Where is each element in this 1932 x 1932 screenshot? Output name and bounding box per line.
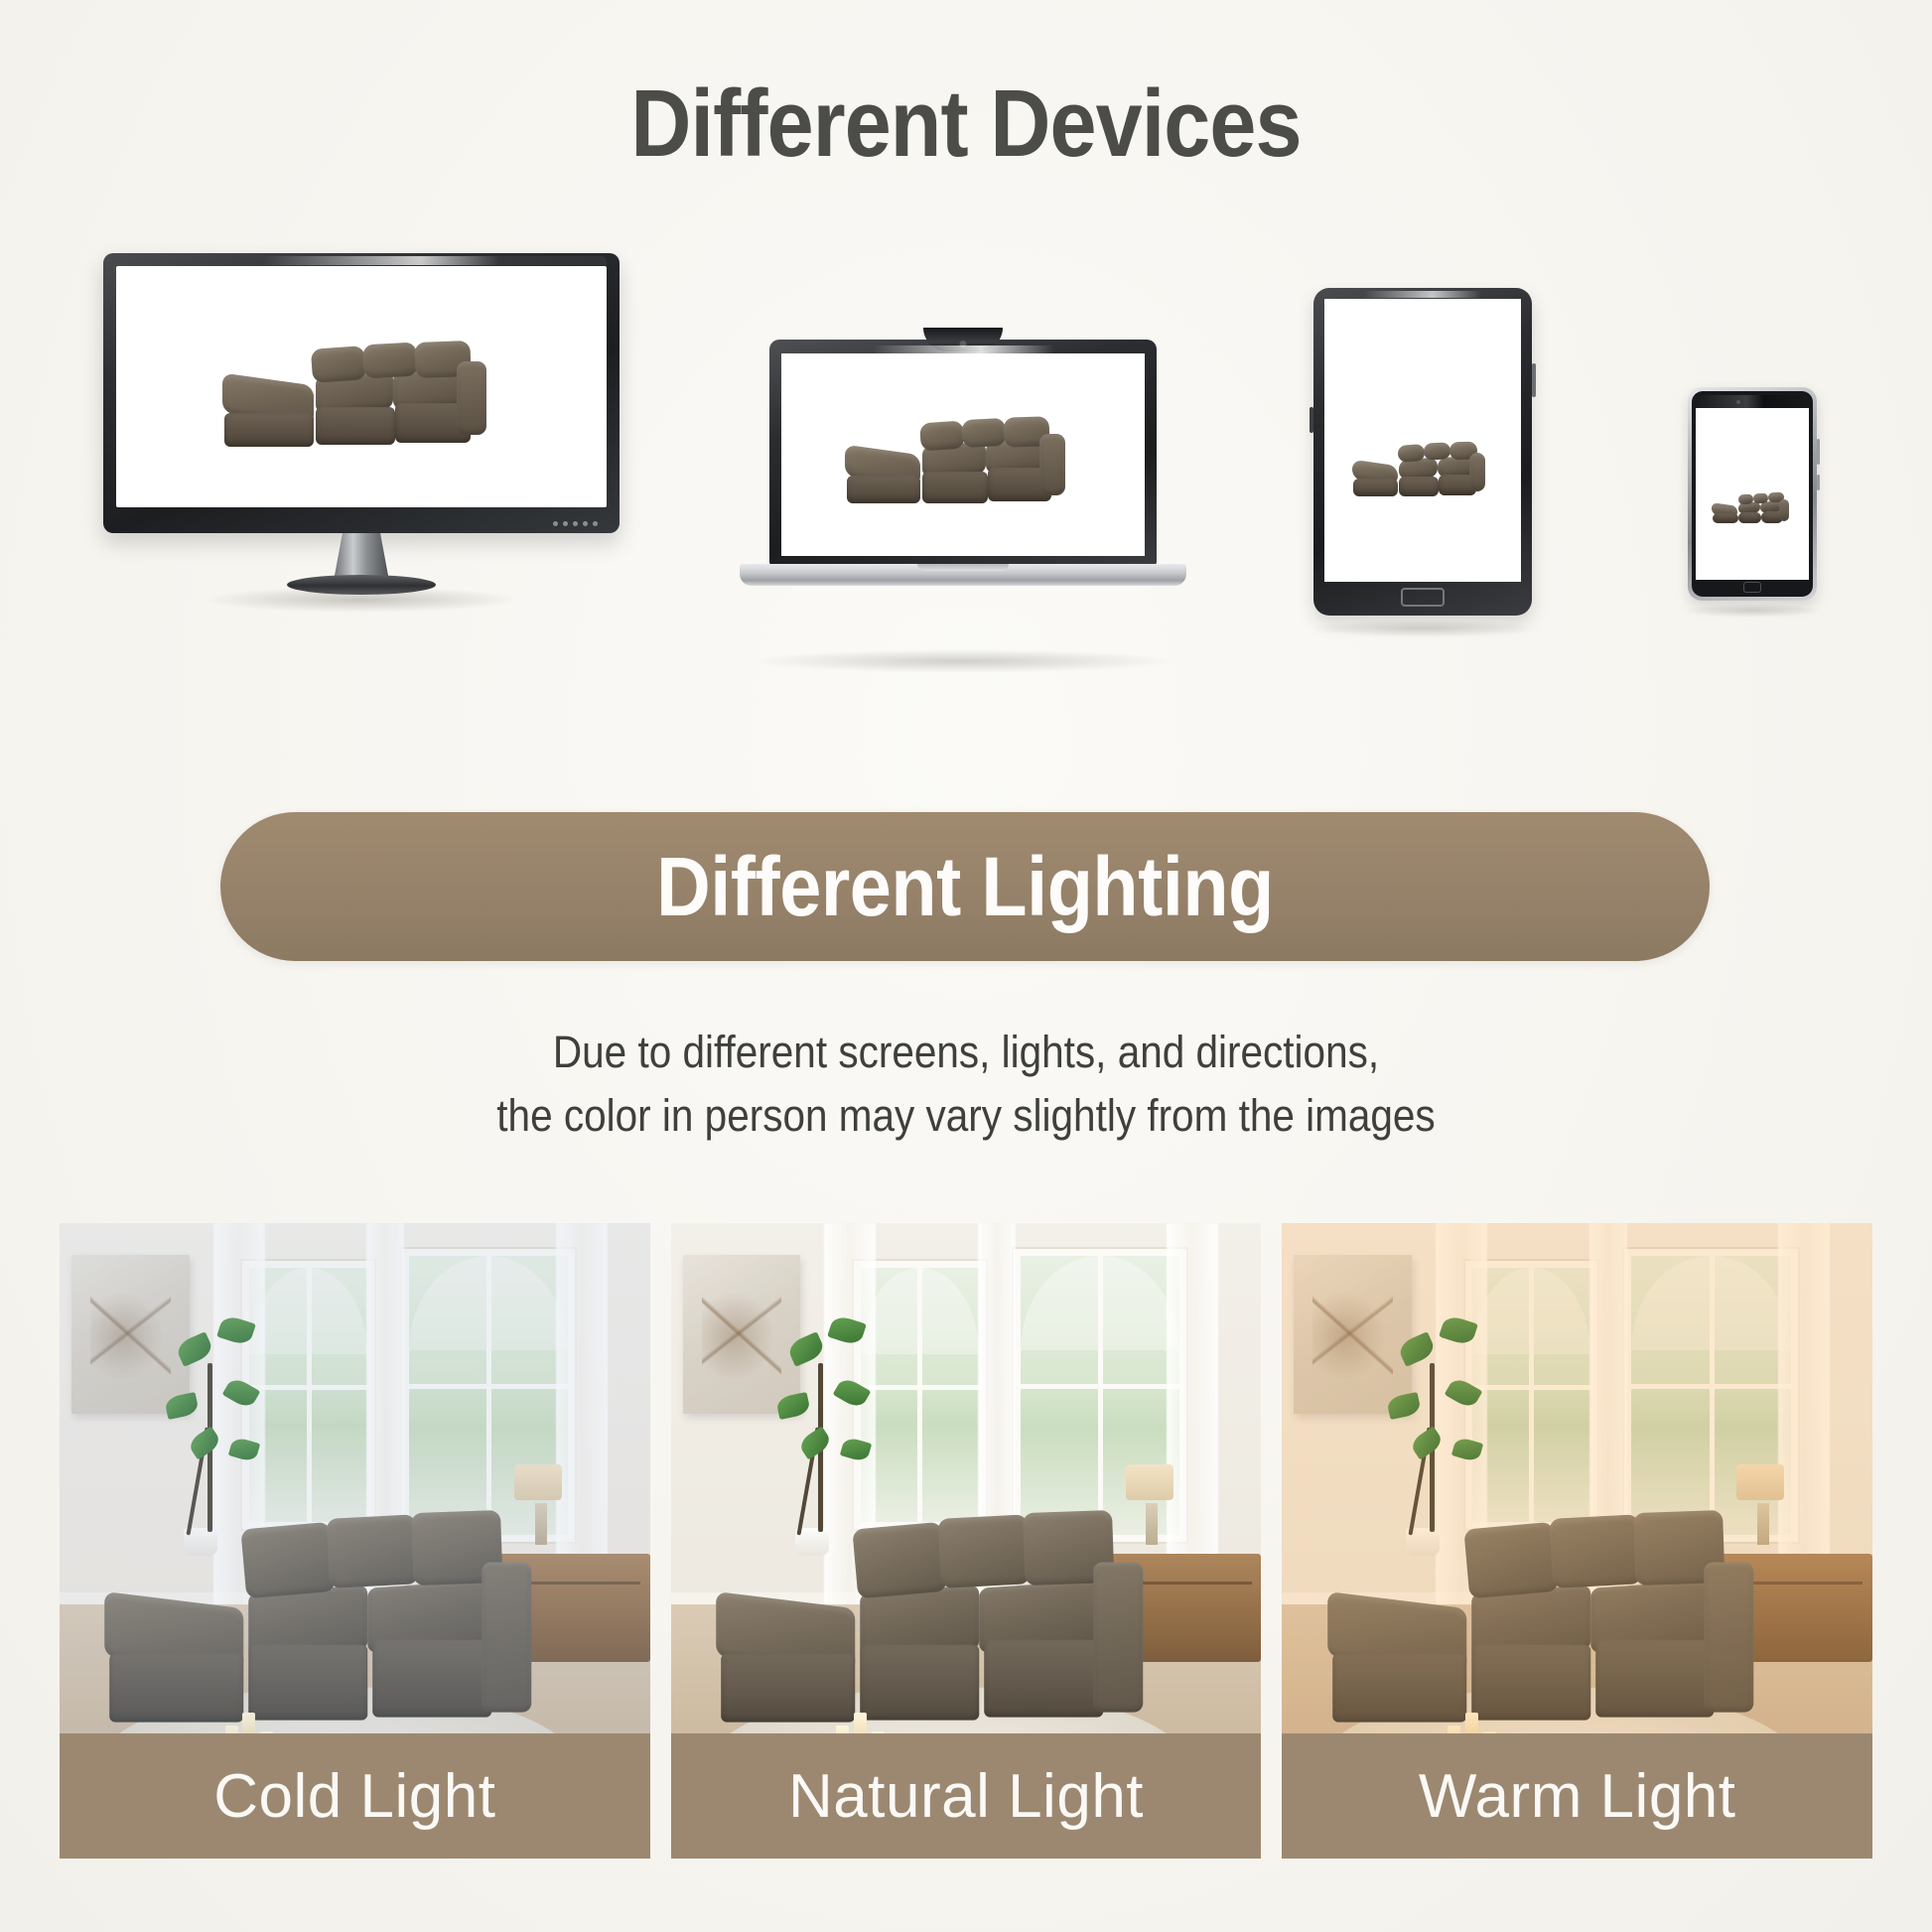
- disclaimer-line-1: Due to different screens, lights, and di…: [96, 1021, 1835, 1084]
- laptop-shadow: [750, 649, 1176, 673]
- tablet-icon: [1313, 288, 1532, 616]
- device-tablet: [1313, 288, 1532, 616]
- lighting-banner-label: Different Lighting: [295, 812, 1635, 961]
- disclaimer-text: Due to different screens, lights, and di…: [0, 1021, 1932, 1148]
- lighting-sample-warm-light[interactable]: Warm Light: [1282, 1223, 1872, 1859]
- caption-bar-warm: Warm Light: [1282, 1733, 1872, 1859]
- phone-icon: [1688, 387, 1817, 601]
- phone-volume-button[interactable]: [1817, 475, 1820, 490]
- phone-power-button[interactable]: [1817, 439, 1820, 465]
- lighting-banner: Different Lighting: [220, 812, 1710, 961]
- infographic-page: Different Devices: [0, 0, 1932, 1932]
- caption-label-warm: Warm Light: [1419, 1761, 1736, 1832]
- page-title: Different Devices: [116, 69, 1816, 179]
- monitor-indicator-dots: [553, 521, 598, 526]
- monitor-screen: [116, 266, 607, 507]
- phone-notch: [1696, 395, 1809, 408]
- lighting-sample-natural-light[interactable]: Natural Light: [671, 1223, 1262, 1859]
- caption-label-natural: Natural Light: [788, 1761, 1144, 1832]
- sofa-image-laptop: [839, 402, 1087, 531]
- tablet-home-button[interactable]: [1401, 588, 1445, 607]
- tablet-volume-button[interactable]: [1310, 407, 1313, 433]
- caption-label-cold: Cold Light: [213, 1761, 495, 1832]
- lighting-sample-cold-light[interactable]: Cold Light: [60, 1223, 650, 1859]
- disclaimer-line-2: the color in person may vary slightly fr…: [96, 1084, 1835, 1148]
- phone-home-indicator[interactable]: [1743, 582, 1761, 593]
- phone-screen: [1696, 408, 1809, 580]
- laptop-screen-glare: [781, 345, 1145, 353]
- monitor-stand-neck: [334, 533, 389, 581]
- monitor-shadow: [203, 587, 520, 613]
- tablet-power-button[interactable]: [1532, 363, 1536, 397]
- lighting-samples-row: Cold Light: [60, 1223, 1872, 1859]
- laptop-base: [740, 564, 1186, 586]
- caption-bar-natural: Natural Light: [671, 1733, 1262, 1859]
- device-desktop-monitor: [103, 253, 620, 533]
- sofa-image-phone: [1710, 487, 1795, 535]
- sofa-image-tablet: [1348, 433, 1497, 516]
- phone-shadow: [1683, 604, 1822, 618]
- tablet-screen: [1324, 299, 1521, 582]
- device-laptop: [740, 340, 1186, 586]
- sofa-image-monitor: [212, 322, 510, 481]
- devices-row: [0, 278, 1932, 695]
- tablet-shadow: [1309, 620, 1537, 637]
- monitor-icon: [103, 253, 620, 533]
- caption-bar-cold: Cold Light: [60, 1733, 650, 1859]
- device-smartphone: [1688, 387, 1817, 601]
- laptop-screen: [781, 353, 1145, 556]
- phone-bezel: [1692, 391, 1813, 597]
- laptop-icon: [769, 340, 1157, 566]
